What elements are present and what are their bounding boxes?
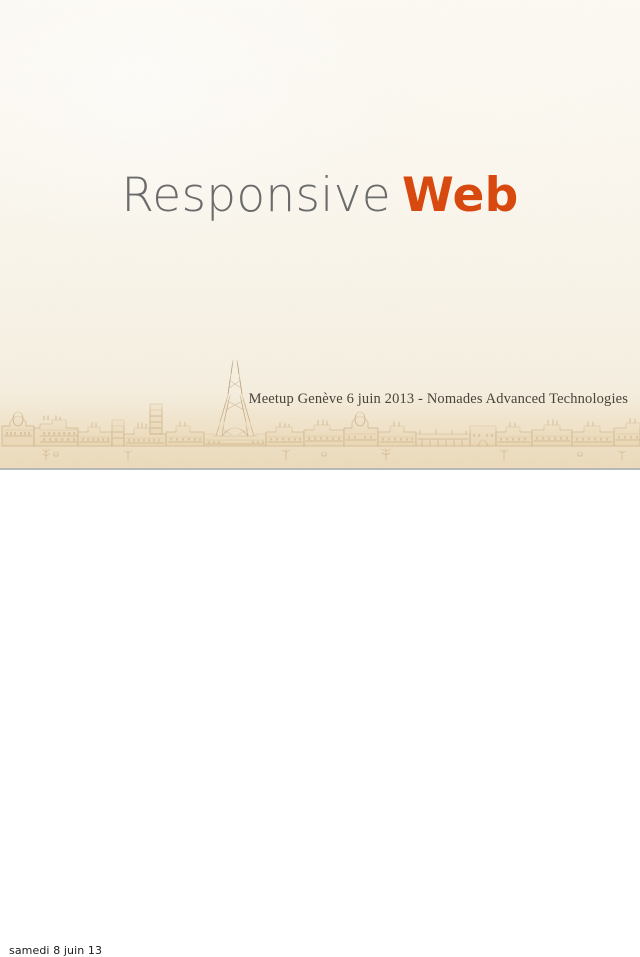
slide-title: ResponsiveWeb	[0, 172, 640, 219]
footer-bar: samedi 8 juin 13	[0, 470, 640, 493]
slide-subtitle: Meetup Genève 6 juin 2013 - Nomades Adva…	[249, 391, 628, 408]
slide-viewer: ResponsiveWeb	[0, 0, 640, 493]
paris-skyline-illustration	[0, 348, 640, 468]
footer-date-label: samedi 8 juin 13	[9, 944, 102, 957]
title-accent-word: Web	[402, 168, 519, 223]
title-primary-word: Responsive	[121, 168, 391, 223]
presentation-slide[interactable]: ResponsiveWeb	[0, 0, 640, 468]
